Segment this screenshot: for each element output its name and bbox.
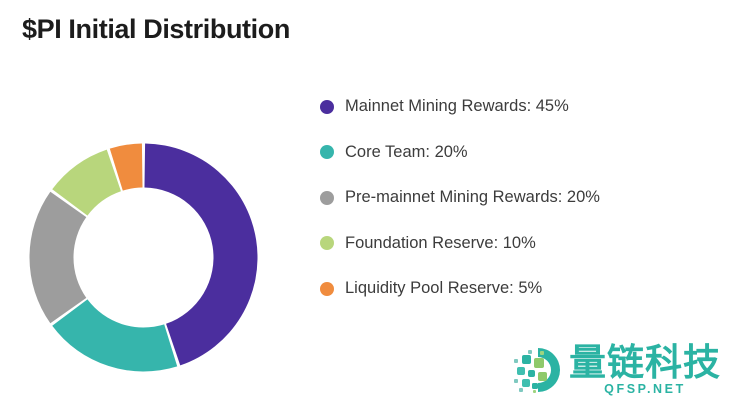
legend-item-label: Core Team: 20% [345,143,468,162]
donut-chart-svg [29,143,258,372]
donut-slice[interactable] [52,299,177,371]
legend-item-label: Pre-mainnet Mining Rewards: 20% [345,188,600,207]
legend-item-label: Mainnet Mining Rewards: 45% [345,97,569,116]
legend-item[interactable]: Liquidity Pool Reserve: 5% [320,266,720,312]
donut-slice-group [29,144,257,372]
page-title: $PI Initial Distribution [22,14,290,45]
legend-dot-icon [320,191,334,205]
watermark: 量链科技 QFSP.NET [508,341,738,399]
legend-dot-icon [320,100,334,114]
legend-dot-icon [320,145,334,159]
legend-dot-icon [320,236,334,250]
legend-item-label: Liquidity Pool Reserve: 5% [345,279,542,298]
legend-item[interactable]: Mainnet Mining Rewards: 45% [320,84,720,130]
watermark-brand-en: QFSP.NET [569,382,721,396]
donut-slice[interactable] [29,192,86,323]
legend-item-label: Foundation Reserve: 10% [345,234,536,253]
chart-legend: Mainnet Mining Rewards: 45% Core Team: 2… [320,84,720,312]
watermark-brand-cn: 量链科技 [569,344,721,382]
donut-chart [29,143,258,372]
qfsp-pixel-circle-logo-icon [508,345,562,395]
chart-page: $PI Initial Distribution Mainnet Mining … [0,0,742,402]
legend-item[interactable]: Core Team: 20% [320,130,720,176]
legend-item[interactable]: Foundation Reserve: 10% [320,221,720,267]
legend-item[interactable]: Pre-mainnet Mining Rewards: 20% [320,175,720,221]
watermark-text: 量链科技 QFSP.NET [569,344,721,397]
legend-dot-icon [320,282,334,296]
